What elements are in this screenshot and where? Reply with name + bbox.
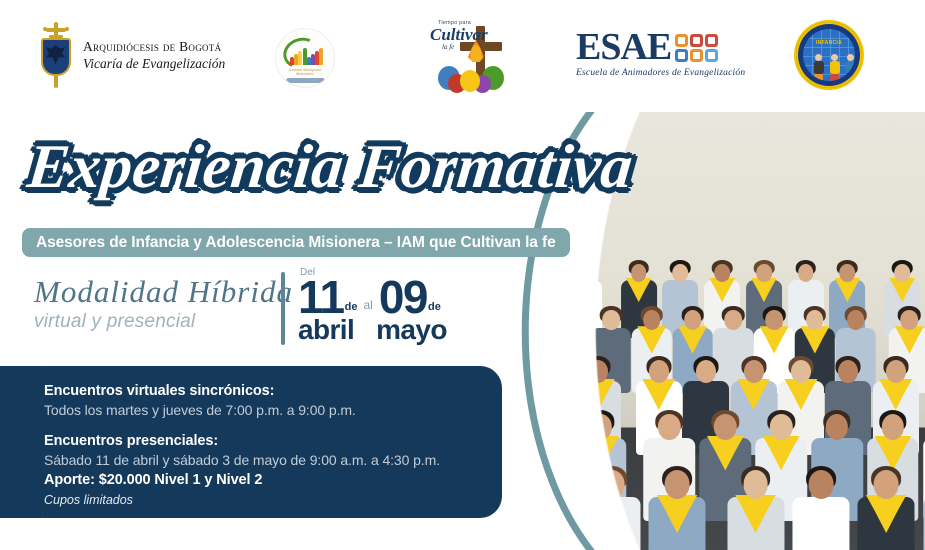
subtitle-text: Asesores de Infancia y Adolescencia Misi… xyxy=(36,234,556,252)
esae-acronym: ESAE xyxy=(576,30,671,65)
arquidiocesis-bogota-logo: Arquidiócesis de Bogotá Vicaría de Evang… xyxy=(38,22,225,88)
info-heading: Encuentros presenciales: xyxy=(44,432,502,450)
flyer-canvas: Arquidiócesis de Bogotá Vicaría de Evang… xyxy=(0,0,925,550)
modalidad-block: Modalidad Híbrida virtual y presencial xyxy=(34,276,293,333)
date-connector: al xyxy=(363,298,372,312)
cultivar-line3: la fe xyxy=(442,43,454,51)
page-title: Experiencia Formativa xyxy=(25,136,636,198)
logo-bar: Arquidiócesis de Bogotá Vicaría de Evang… xyxy=(0,0,925,112)
info-panel: Encuentros virtuales sincrónicos: Todos … xyxy=(22,366,502,518)
end-day: 09 xyxy=(379,278,427,317)
info-price: Aporte: $20.000 Nivel 1 y Nivel 2 xyxy=(44,471,502,490)
arquidiocesis-line2: Vicaría de Evangelización xyxy=(83,56,225,72)
tiempo-para-cultivar-la-fe-logo: Tiempo para Cultivar la fe xyxy=(424,18,516,96)
cross-flame-icon: Tiempo para Cultivar la fe xyxy=(424,18,516,96)
start-month: abril xyxy=(298,316,354,344)
start-day: 11 xyxy=(298,278,344,317)
info-block-virtual: Encuentros virtuales sincrónicos: Todos … xyxy=(44,382,502,420)
subtitle-banner: Asesores de Infancia y Adolescencia Misi… xyxy=(22,228,570,257)
start-de: de xyxy=(345,301,358,313)
iam-ring-top: INFANCIA xyxy=(803,40,855,46)
end-month: mayo xyxy=(376,316,447,344)
modalidad-subtext: virtual y presencial xyxy=(34,311,293,333)
cultivar-line2: Cultivar xyxy=(430,25,488,45)
camino-discipular-misionero-logo: Camino Discipular Misionero xyxy=(276,29,334,87)
esae-subtitle: Escuela de Animadores de Evangelización xyxy=(576,68,745,78)
vertical-divider xyxy=(281,272,285,345)
info-detail: Sábado 11 de abril y sábado 3 de mayo de… xyxy=(44,451,502,470)
episcopal-crest-icon xyxy=(38,22,74,88)
circular-people-arc-icon: Camino Discipular Misionero xyxy=(276,29,334,87)
info-detail: Todos los martes y jueves de 7:00 p.m. a… xyxy=(44,401,502,420)
globe-children-seal-icon: INFANCIA xyxy=(796,22,862,88)
infancia-misionera-seal: INFANCIA xyxy=(796,22,862,88)
modalidad-heading: Modalidad Híbrida xyxy=(34,276,293,309)
cdm-line1: Camino Discipular Misionero xyxy=(282,68,328,76)
end-de: de xyxy=(428,301,441,313)
info-heading: Encuentros virtuales sincrónicos: xyxy=(44,382,502,400)
info-block-presencial: Encuentros presenciales: Sábado 11 de ab… xyxy=(44,432,502,508)
date-range-block: Del 11 de al 09 de abril mayo xyxy=(298,268,447,344)
arquidiocesis-line1: Arquidiócesis de Bogotá xyxy=(83,39,225,55)
info-note: Cupos limitados xyxy=(44,492,502,508)
esae-logo: ESAE Escuela de Animadores de Evangeliza… xyxy=(576,30,745,78)
bottom-white-strip xyxy=(0,518,470,550)
colored-blocks-icon xyxy=(675,34,718,62)
